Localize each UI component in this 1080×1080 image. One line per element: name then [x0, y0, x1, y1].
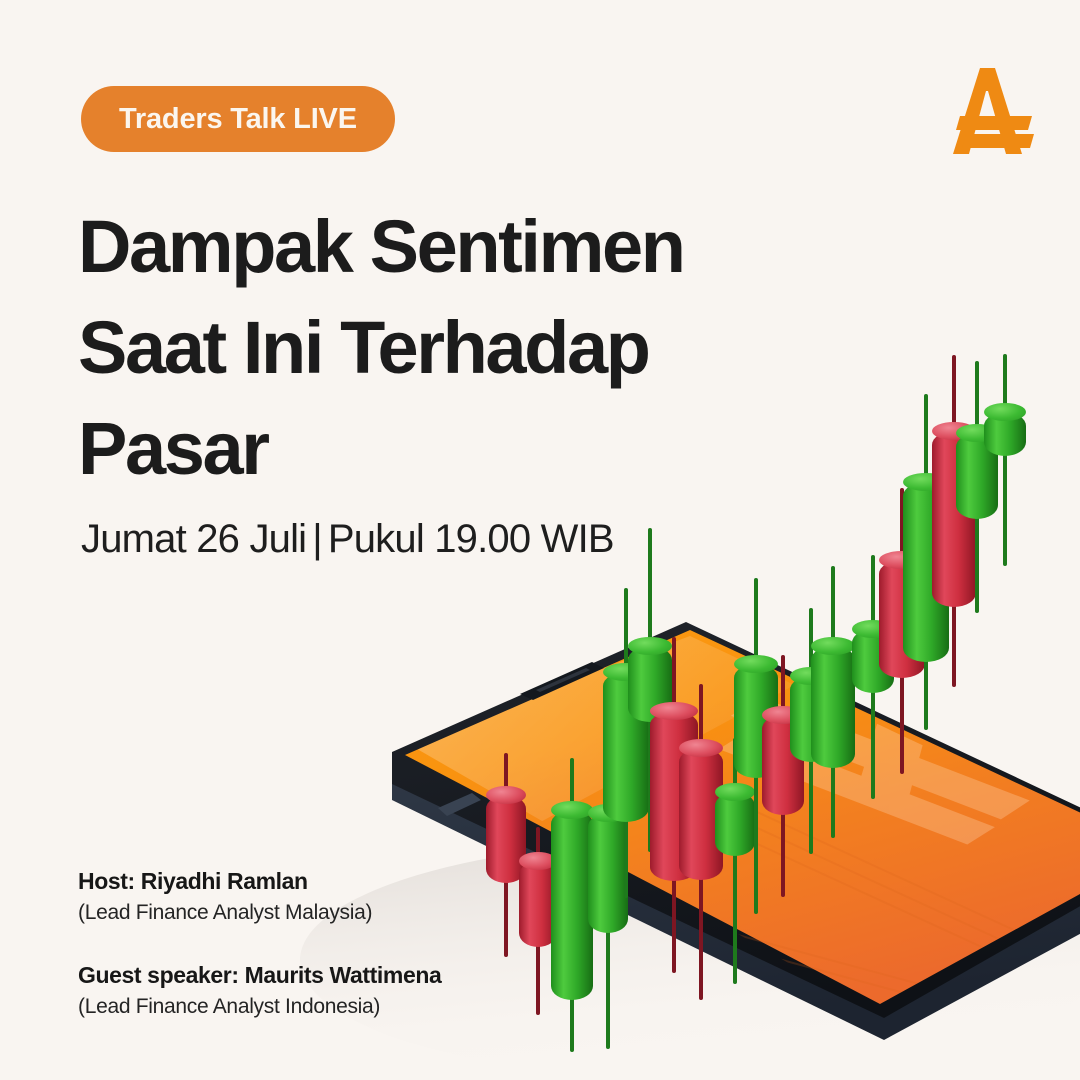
schedule-time: Pukul 19.00 WIB	[328, 517, 614, 561]
candle-body	[811, 646, 855, 768]
candle-wick	[1003, 354, 1007, 566]
headline-line-1: Dampak Sentimen	[78, 196, 838, 297]
arthavest-a-logo-icon	[934, 58, 1038, 166]
host-name: Host: Riyadhi Ramlan	[78, 868, 598, 895]
guest-name: Guest speaker: Maurits Wattimena	[78, 962, 598, 989]
headline-line-2: Saat Ini Terhadap	[78, 297, 838, 398]
schedule-separator: |	[306, 517, 328, 561]
guest-block: Guest speaker: Maurits Wattimena (Lead F…	[78, 962, 598, 1019]
candle-top-cap	[811, 637, 855, 655]
poster-canvas: Traders Talk LIVE Dampak Sentimen Saat I…	[0, 0, 1080, 1080]
schedule-line: Jumat 26 Juli|Pukul 19.00 WIB	[81, 517, 614, 562]
speakers-block: Host: Riyadhi Ramlan (Lead Finance Analy…	[78, 868, 598, 1019]
candle-top-cap	[551, 801, 593, 819]
host-block: Host: Riyadhi Ramlan (Lead Finance Analy…	[78, 868, 598, 925]
candle-19-up	[984, 354, 1026, 566]
candle-13-up	[811, 566, 855, 838]
guest-role: (Lead Finance Analyst Indonesia)	[78, 995, 598, 1019]
page-title: Dampak Sentimen Saat Ini Terhadap Pasar	[78, 196, 838, 499]
candle-top-cap	[486, 786, 526, 804]
schedule-date: Jumat 26 Juli	[81, 517, 306, 561]
headline-line-3: Pasar	[78, 398, 838, 499]
brand-logo	[934, 58, 1038, 166]
candle-top-cap	[984, 403, 1026, 421]
host-role: (Lead Finance Analyst Malaysia)	[78, 901, 598, 925]
traders-talk-live-badge[interactable]: Traders Talk LIVE	[81, 86, 395, 152]
